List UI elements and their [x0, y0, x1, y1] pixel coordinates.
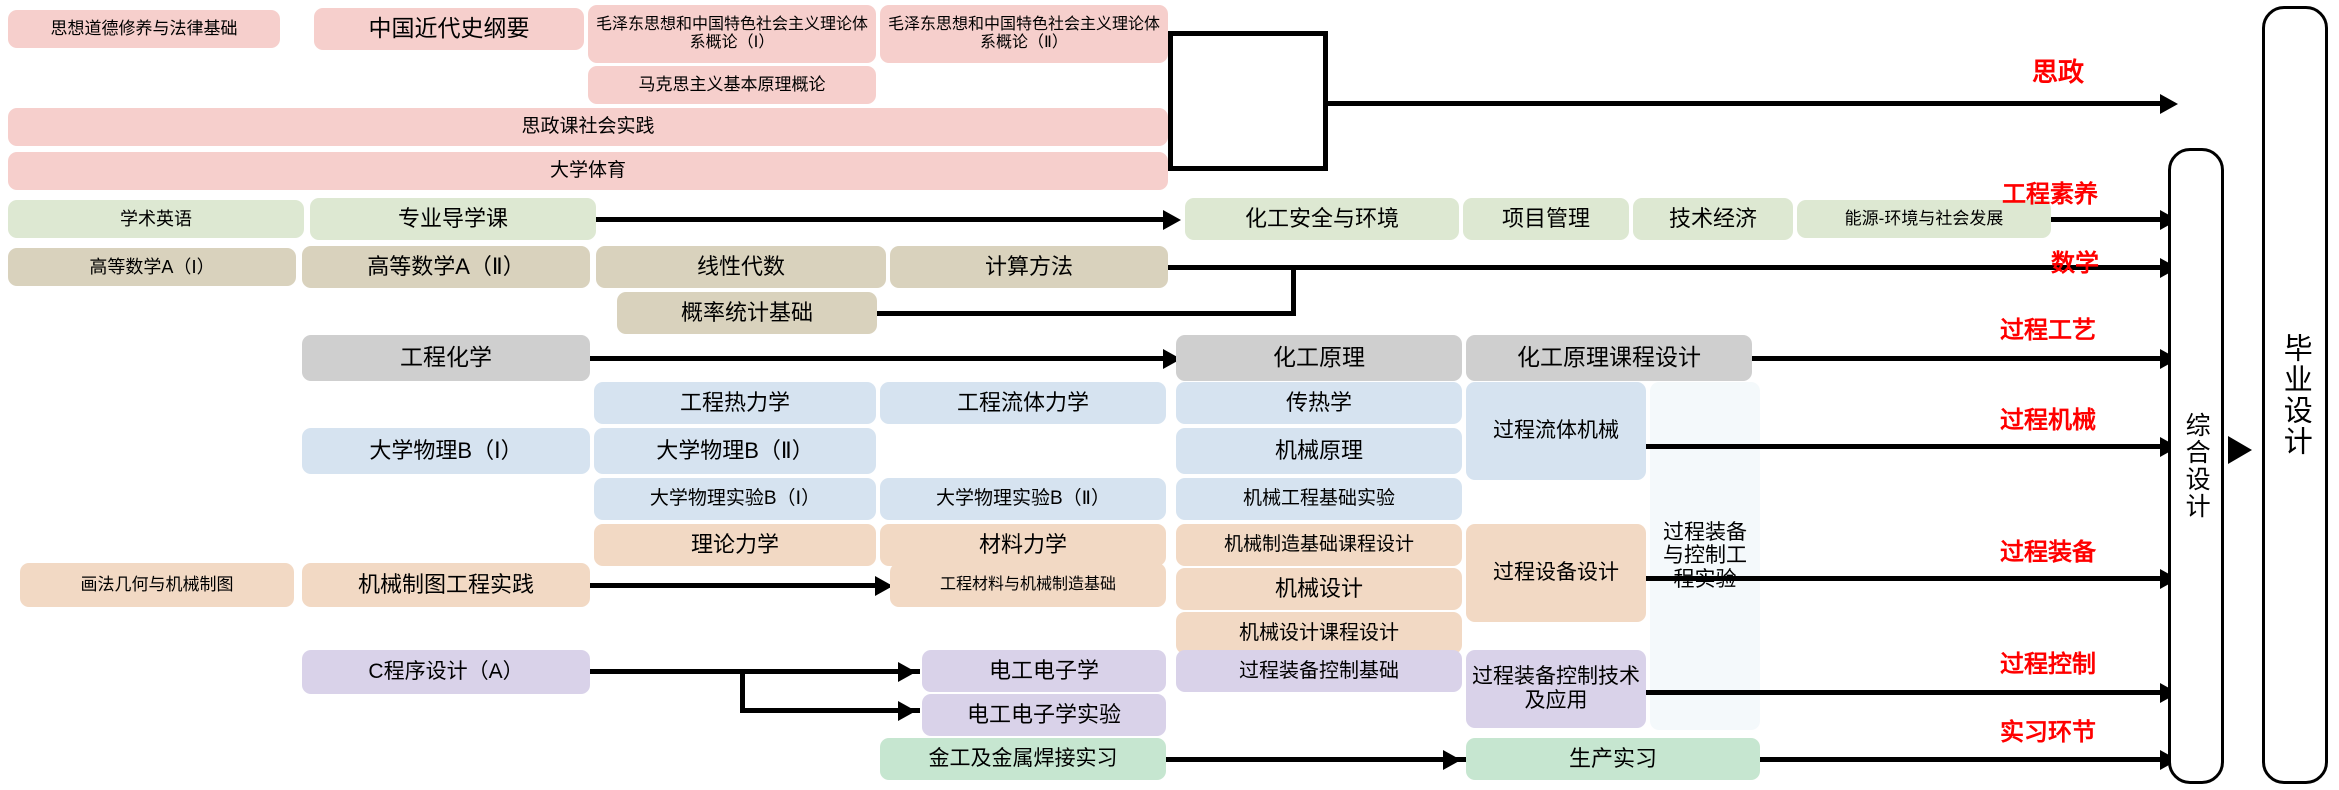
connector-math-to-final	[1291, 265, 2163, 270]
course-label: 线性代数	[600, 255, 882, 280]
connector-probability-right	[877, 311, 1296, 316]
connector-literacy-to-final	[2051, 217, 2163, 222]
course-label: 大学物理实验B（Ⅰ）	[598, 488, 872, 509]
course-materials-mechanics[interactable]: 材料力学	[880, 524, 1166, 566]
arrow-c-prog-to-electronics	[898, 662, 916, 682]
course-process-equipment-design[interactable]: 过程设备设计	[1466, 524, 1646, 622]
course-label: 高等数学A（Ⅰ）	[12, 257, 292, 277]
course-label: 机械工程基础实验	[1180, 488, 1458, 509]
connector-comp-methods-right	[1168, 265, 1296, 270]
course-label: 过程装备控制基础	[1180, 660, 1458, 682]
connector-math-merge	[1291, 265, 1296, 315]
course-marxism[interactable]: 马克思主义基本原理概论	[588, 66, 876, 104]
course-politics-practice[interactable]: 思政课社会实践	[8, 108, 1168, 146]
final-comprehensive-design[interactable]: 综合设计	[2168, 148, 2224, 784]
course-mech-design-course[interactable]: 机械设计课程设计	[1176, 612, 1462, 654]
course-label: 传热学	[1180, 391, 1458, 416]
course-adv-math-a1[interactable]: 高等数学A（Ⅰ）	[8, 248, 296, 286]
curriculum-flowchart: 思想道德修养与法律基础 中国近代史纲要 毛泽东思想和中国特色社会主义理论体系概论…	[0, 0, 2339, 790]
course-eng-fluid-mechanics[interactable]: 工程流体力学	[880, 382, 1166, 424]
connector-politics-h-pe	[1168, 166, 1328, 171]
course-label: 高等数学A（Ⅱ）	[306, 255, 586, 280]
course-chem-safety-env[interactable]: 化工安全与环境	[1185, 198, 1459, 240]
course-modern-history[interactable]: 中国近代史纲要	[314, 8, 584, 50]
course-label: 工程流体力学	[884, 391, 1162, 416]
stream-label-process-equipment: 过程装备	[2000, 532, 2096, 567]
course-academic-english[interactable]: 学术英语	[8, 200, 304, 238]
course-label: 工程热力学	[598, 391, 872, 416]
course-label: 项目管理	[1467, 207, 1625, 232]
course-theoretical-mechanics[interactable]: 理论力学	[594, 524, 876, 566]
stream-label-engineering-literacy: 工程素养	[2002, 174, 2098, 209]
course-physics-lab-b2[interactable]: 大学物理实验B（Ⅱ）	[880, 478, 1166, 520]
connector-politics-to-final	[1323, 101, 2163, 106]
connector-process-machinery-to-final	[1646, 444, 2163, 449]
course-label: 毛泽东思想和中国特色社会主义理论体系概论（Ⅰ）	[592, 16, 872, 52]
connector-process-equipment-to-final	[1646, 576, 2163, 581]
course-eng-thermodynamics[interactable]: 工程热力学	[594, 382, 876, 424]
course-engineering-chemistry[interactable]: 工程化学	[302, 335, 590, 381]
course-univ-physics-b2[interactable]: 大学物理B（Ⅱ）	[594, 428, 876, 474]
course-mech-drawing-practice[interactable]: 机械制图工程实践	[302, 563, 590, 607]
course-label: 化工原理课程设计	[1470, 345, 1748, 371]
course-electrical-electronics-lab[interactable]: 电工电子学实验	[922, 694, 1166, 736]
course-label: 过程设备设计	[1470, 561, 1642, 585]
course-label: 金工及金属焊接实习	[884, 747, 1162, 771]
course-c-programming[interactable]: C程序设计（A）	[302, 650, 590, 694]
course-mao-theory-2[interactable]: 毛泽东思想和中国特色社会主义理论体系概论（Ⅱ）	[880, 5, 1168, 63]
course-physics-lab-b1[interactable]: 大学物理实验B（Ⅰ）	[594, 478, 876, 520]
course-label: C程序设计（A）	[306, 660, 586, 684]
course-label: 大学物理实验B（Ⅱ）	[884, 488, 1162, 509]
course-mao-theory-1[interactable]: 毛泽东思想和中国特色社会主义理论体系概论（Ⅰ）	[588, 5, 876, 63]
stream-label-process-machinery: 过程机械	[2000, 400, 2096, 435]
course-process-fluid-machinery[interactable]: 过程流体机械	[1466, 382, 1646, 480]
course-label: 大学体育	[12, 160, 1164, 181]
connector-politics-h-mao2	[1168, 31, 1328, 36]
graduation-design-label: 毕业设计	[2280, 333, 2310, 457]
arrow-major-intro	[1163, 210, 1181, 230]
course-label: 机械原理	[1180, 439, 1458, 464]
course-computational-methods[interactable]: 计算方法	[890, 246, 1168, 288]
course-process-equip-control-tech[interactable]: 过程装备控制技术及应用	[1466, 650, 1646, 728]
connector-c-prog-vertical	[740, 669, 745, 713]
connector-internship-to-final	[1760, 757, 2163, 762]
course-label: 机械设计课程设计	[1180, 622, 1458, 644]
connector-process-control-to-final	[1646, 690, 2163, 695]
course-mfg-basics-design[interactable]: 机械制造基础课程设计	[1176, 524, 1462, 566]
course-chem-principles[interactable]: 化工原理	[1176, 335, 1462, 381]
arrow-c-prog-to-electronics-lab	[898, 701, 916, 721]
connector-process-tech-to-final	[1752, 356, 2163, 361]
course-label: 能源-环境与社会发展	[1801, 209, 2047, 228]
course-pe[interactable]: 大学体育	[8, 152, 1168, 190]
course-process-equip-control-exp[interactable]: 过程装备与控制工程实验	[1650, 382, 1760, 730]
course-label: 计算方法	[894, 255, 1164, 280]
course-major-intro[interactable]: 专业导学课	[310, 198, 596, 240]
course-label: 马克思主义基本原理概论	[592, 75, 872, 94]
course-label: 思想道德修养与法律基础	[12, 19, 276, 38]
course-heat-transfer[interactable]: 传热学	[1176, 382, 1462, 424]
connector-major-intro-to-safety	[596, 217, 1168, 222]
connector-c-prog-to-electronics-lab	[740, 708, 920, 713]
course-label: 机械设计	[1180, 577, 1458, 602]
course-chem-principles-design[interactable]: 化工原理课程设计	[1466, 335, 1752, 381]
course-mech-eng-basic-lab[interactable]: 机械工程基础实验	[1176, 478, 1462, 520]
course-label: 大学物理B（Ⅱ）	[598, 439, 872, 464]
stream-label-internship: 实习环节	[2000, 712, 2096, 747]
course-metalwork-welding[interactable]: 金工及金属焊接实习	[880, 738, 1166, 780]
connector-drawing-to-materials	[590, 583, 880, 588]
course-label: 毛泽东思想和中国特色社会主义理论体系概论（Ⅱ）	[884, 16, 1164, 52]
course-label: 技术经济	[1637, 207, 1789, 232]
course-label: 概率统计基础	[621, 301, 873, 326]
course-label: 机械制图工程实践	[306, 573, 586, 598]
comprehensive-design-label: 综合设计	[2183, 412, 2209, 520]
course-label: 化工安全与环境	[1189, 207, 1455, 232]
course-univ-physics-b1[interactable]: 大学物理B（Ⅰ）	[302, 428, 590, 474]
course-label: 大学物理B（Ⅰ）	[306, 439, 586, 464]
course-label: 画法几何与机械制图	[24, 575, 290, 594]
course-electrical-electronics[interactable]: 电工电子学	[922, 650, 1166, 692]
arrow-politics	[2160, 94, 2178, 114]
course-mechanism-principles[interactable]: 机械原理	[1176, 428, 1462, 474]
connector-eng-chem-to-principles	[590, 356, 1168, 361]
course-process-equip-control-basics[interactable]: 过程装备控制基础	[1176, 650, 1462, 692]
course-label: 机械制造基础课程设计	[1180, 534, 1458, 555]
connector-politics-vertical-a	[1168, 31, 1173, 171]
course-production-internship[interactable]: 生产实习	[1466, 738, 1760, 780]
course-descriptive-geometry[interactable]: 画法几何与机械制图	[20, 563, 294, 607]
course-mechanical-design[interactable]: 机械设计	[1176, 568, 1462, 610]
course-label: 思政课社会实践	[12, 116, 1164, 137]
course-label: 工程化学	[306, 345, 586, 371]
course-label: 中国近代史纲要	[318, 16, 580, 42]
stream-label-process-tech: 过程工艺	[2000, 310, 2096, 345]
course-moral-law[interactable]: 思想道德修养与法律基础	[8, 10, 280, 48]
course-label: 学术英语	[12, 209, 300, 229]
connector-metalwork-to-production	[1166, 757, 1466, 762]
course-label: 电工电子学	[926, 659, 1162, 684]
course-label: 过程流体机械	[1470, 419, 1642, 443]
course-label: 专业导学课	[314, 207, 592, 232]
arrow-metalwork	[1443, 750, 1461, 770]
course-linear-algebra[interactable]: 线性代数	[596, 246, 886, 288]
course-label: 工程材料与机械制造基础	[894, 576, 1162, 594]
arrow-comprehensive-to-graduation	[2228, 436, 2252, 464]
course-label: 生产实习	[1470, 747, 1756, 772]
course-label: 过程装备控制技术及应用	[1470, 665, 1642, 712]
course-label: 理论力学	[598, 533, 872, 558]
stream-label-politics: 思政	[2032, 52, 2084, 89]
course-adv-math-a2[interactable]: 高等数学A（Ⅱ）	[302, 246, 590, 288]
stream-label-math: 数学	[2051, 243, 2099, 278]
stream-label-process-control: 过程控制	[2000, 644, 2096, 679]
course-project-management[interactable]: 项目管理	[1463, 198, 1629, 240]
connector-c-prog-horizontal	[590, 669, 920, 674]
course-label: 化工原理	[1180, 345, 1458, 371]
course-label: 电工电子学实验	[926, 703, 1162, 728]
course-label: 材料力学	[884, 533, 1162, 558]
course-probability-stats[interactable]: 概率统计基础	[617, 292, 877, 334]
course-eng-materials-mfg[interactable]: 工程材料与机械制造基础	[890, 563, 1166, 607]
course-tech-economics[interactable]: 技术经济	[1633, 198, 1793, 240]
final-graduation-design[interactable]: 毕业设计	[2262, 6, 2328, 784]
